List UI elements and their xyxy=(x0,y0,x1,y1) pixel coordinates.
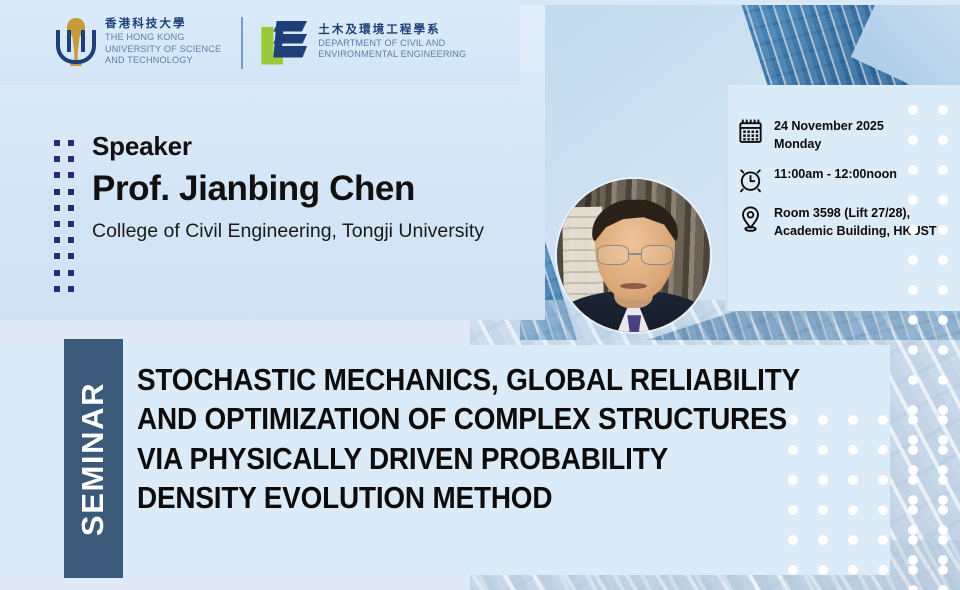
event-time-text: 11:00am - 12:00noon xyxy=(774,166,897,184)
speaker-avatar xyxy=(557,179,710,332)
calendar-icon xyxy=(738,118,763,145)
hkust-name-cn: 香港科技大學 xyxy=(105,18,221,32)
hkust-goblet-logo-icon xyxy=(56,18,96,66)
event-date-text: 24 November 2025 Monday xyxy=(774,118,884,154)
speaker-name: Prof. Jianbing Chen xyxy=(92,170,542,209)
event-venue-line-1: Room 3598 (Lift 27/28), xyxy=(774,206,910,220)
speaker-block: Speaker Prof. Jianbing Chen College of C… xyxy=(92,132,542,244)
cee-logo-text: 土木及環境工程學系 DEPARTMENT OF CIVIL AND ENVIRO… xyxy=(318,24,466,61)
seminar-poster: 香港科技大學 THE HONG KONG UNIVERSITY OF SCIEN… xyxy=(0,0,960,590)
poster-header: 香港科技大學 THE HONG KONG UNIVERSITY OF SCIEN… xyxy=(0,0,520,85)
logo-divider xyxy=(241,17,243,69)
cee-name-cn: 土木及環境工程學系 xyxy=(318,24,466,38)
seminar-title-line-4: DENSITY EVOLUTION METHOD xyxy=(137,479,805,518)
event-date-line-2: Monday xyxy=(774,137,821,151)
logo-row: 香港科技大學 THE HONG KONG UNIVERSITY OF SCIEN… xyxy=(0,17,466,69)
alarm-clock-icon xyxy=(738,166,763,193)
event-date-line-1: 24 November 2025 xyxy=(774,119,884,133)
cee-department-logo-icon xyxy=(261,21,307,65)
seminar-title-line-3: VIA PHYSICALLY DRIVEN PROBABILITY xyxy=(137,440,805,479)
cee-name-en-line-2: ENVIRONMENTAL ENGINEERING xyxy=(318,49,466,61)
hkust-logo: 香港科技大學 THE HONG KONG UNIVERSITY OF SCIEN… xyxy=(56,18,221,67)
cee-name-en-line-1: DEPARTMENT OF CIVIL AND xyxy=(318,38,466,50)
seminar-title-line-1: STOCHASTIC MECHANICS, GLOBAL RELIABILITY xyxy=(137,361,805,400)
hkust-name-en-line-1: THE HONG KONG xyxy=(105,32,221,44)
location-pin-icon xyxy=(738,205,763,232)
hkust-logo-text: 香港科技大學 THE HONG KONG UNIVERSITY OF SCIEN… xyxy=(105,18,221,67)
speaker-label: Speaker xyxy=(92,132,542,162)
glasses-icon xyxy=(597,245,674,265)
seminar-badge-label: SEMINAR xyxy=(76,381,112,535)
seminar-title-line-2: AND OPTIMIZATION OF COMPLEX STRUCTURES xyxy=(137,400,805,439)
event-info-panel-edge xyxy=(725,85,728,311)
speaker-affiliation: College of Civil Engineering, Tongji Uni… xyxy=(92,220,542,243)
seminar-badge: SEMINAR xyxy=(64,339,123,578)
seminar-title: STOCHASTIC MECHANICS, GLOBAL RELIABILITY… xyxy=(137,361,805,519)
dot-grid-decoration xyxy=(54,140,82,302)
white-dot-grid-lower-right xyxy=(768,395,960,590)
hkust-name-en-line-2: UNIVERSITY OF SCIENCE xyxy=(105,44,221,56)
hkust-name-en-line-3: AND TECHNOLOGY xyxy=(105,55,221,67)
cee-logo: 土木及環境工程學系 DEPARTMENT OF CIVIL AND ENVIRO… xyxy=(261,21,466,65)
